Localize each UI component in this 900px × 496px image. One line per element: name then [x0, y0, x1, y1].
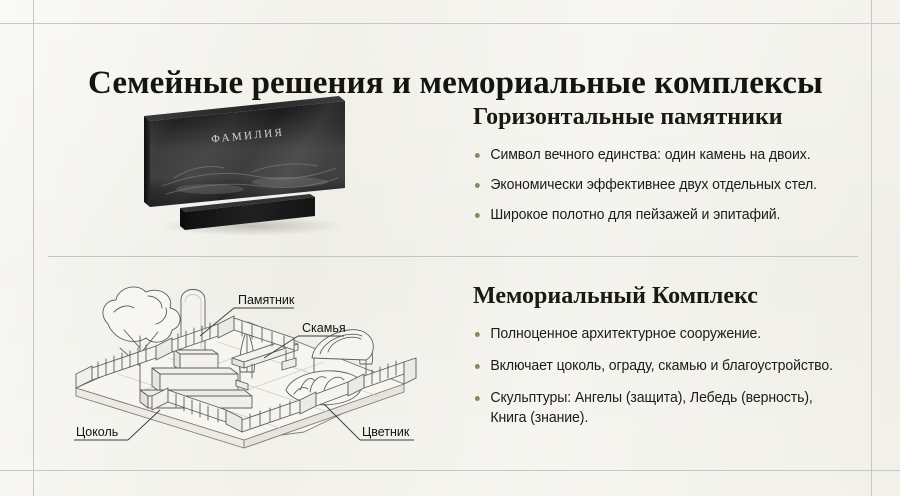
section-1-bullet-list: Символ вечного единства: один камень на …	[473, 146, 865, 226]
section-1-heading: Горизонтальные памятники	[473, 104, 865, 132]
section-2-heading: Мемориальный Комплекс	[473, 283, 865, 311]
monument-slab: ФАМИЛИЯ	[144, 96, 345, 207]
list-item: Символ вечного единства: один камень на …	[473, 146, 851, 165]
plan-label-monument: Памятник	[238, 293, 295, 307]
plan-label-bench: Скамья	[302, 321, 346, 335]
slide-canvas: Семейные решения и мемориальные комплекс…	[0, 0, 900, 496]
section-horizontal-monuments: Горизонтальные памятники Символ вечного …	[473, 104, 865, 237]
frame-rule-bottom	[0, 470, 900, 471]
frame-rule-left	[33, 0, 34, 496]
section-2-bullet-list: Полноценное архитектурное сооружение. Вк…	[473, 325, 865, 429]
memorial-complex-plan: Памятник Скамья Цоколь Цветник	[48, 262, 448, 467]
list-item: Включает цоколь, ограду, скамью и благоу…	[473, 357, 851, 376]
plan-label-plinth: Цоколь	[76, 425, 118, 439]
frame-rule-top	[0, 23, 900, 24]
list-item: Скульптуры: Ангелы (защита), Лебедь (вер…	[473, 389, 851, 428]
list-item: Полноценное архитектурное сооружение.	[473, 325, 851, 344]
horizontal-monument-photo: ФАМИЛИЯ	[132, 90, 364, 242]
section-memorial-complex: Мемориальный Комплекс Полноценное архите…	[473, 283, 865, 441]
section-divider	[48, 256, 858, 257]
plan-label-flowerbed: Цветник	[362, 425, 410, 439]
frame-rule-right	[871, 0, 872, 496]
list-item: Экономически эффективнее двух отдельных …	[473, 176, 851, 195]
list-item: Широкое полотно для пейзажей и эпитафий.	[473, 206, 851, 225]
